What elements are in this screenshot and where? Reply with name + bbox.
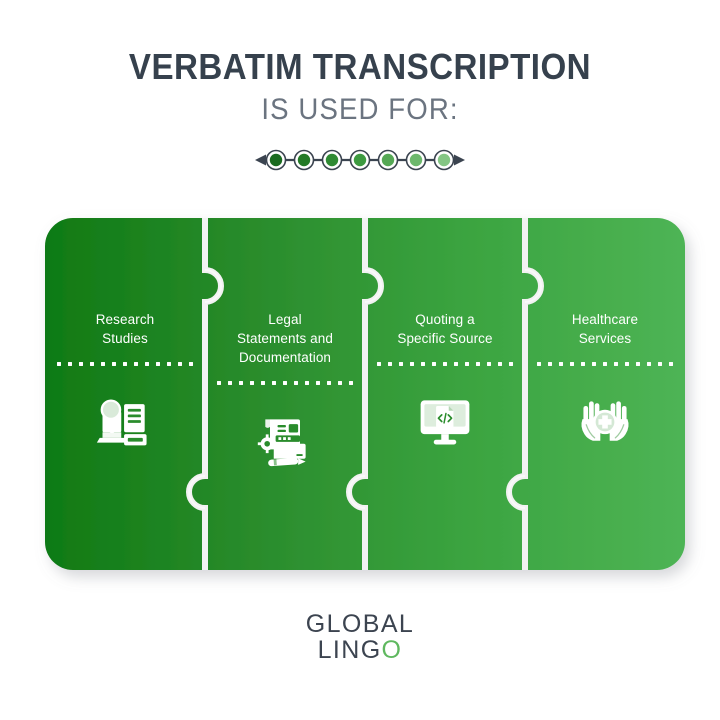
hands-medical-cross-icon xyxy=(572,388,638,454)
separator-dot xyxy=(349,381,353,385)
infographic-canvas: VERBATIM TRANSCRIPTION IS USED FOR: xyxy=(0,0,720,720)
separator-dot xyxy=(145,362,149,366)
separator-dot xyxy=(570,362,574,366)
separator-dot xyxy=(636,362,640,366)
separator-dot xyxy=(327,381,331,385)
divider-dot xyxy=(410,154,422,166)
logo-line-lingo: LINGO xyxy=(0,638,720,664)
separator-dot xyxy=(178,362,182,366)
card-dot-separator xyxy=(537,362,673,366)
separator-dot xyxy=(294,381,298,385)
divider-dot xyxy=(270,154,282,166)
separator-dot xyxy=(388,362,392,366)
separator-dot xyxy=(487,362,491,366)
logo-line-global: GLOBAL xyxy=(0,612,720,638)
separator-dot xyxy=(548,362,552,366)
separator-dot xyxy=(156,362,160,366)
separator-dot xyxy=(68,362,72,366)
decorative-divider xyxy=(0,142,720,178)
divider-dot xyxy=(354,154,366,166)
monitor-code-document-icon xyxy=(412,388,478,454)
separator-dot xyxy=(316,381,320,385)
separator-dot xyxy=(57,362,61,366)
separator-dot xyxy=(272,381,276,385)
puzzle-card-healthcare-services[interactable]: Healthcare Services xyxy=(525,218,685,570)
separator-dot xyxy=(669,362,673,366)
separator-dot xyxy=(217,381,221,385)
separator-dot xyxy=(90,362,94,366)
separator-dot xyxy=(625,362,629,366)
separator-dot xyxy=(581,362,585,366)
separator-dot xyxy=(261,381,265,385)
separator-dot xyxy=(399,362,403,366)
separator-dot xyxy=(614,362,618,366)
separator-dot xyxy=(592,362,596,366)
card-dot-separator xyxy=(377,362,513,366)
divider-dot xyxy=(298,154,310,166)
divider-dot xyxy=(438,154,450,166)
card-label-line: Legal xyxy=(237,310,333,329)
logo-o-accent: O xyxy=(382,636,403,664)
separator-dot xyxy=(167,362,171,366)
separator-dot xyxy=(112,362,116,366)
magnifier-book-icon xyxy=(92,388,158,454)
separator-dot xyxy=(79,362,83,366)
separator-dot xyxy=(498,362,502,366)
separator-dot xyxy=(338,381,342,385)
separator-dot xyxy=(101,362,105,366)
divider-dot xyxy=(382,154,394,166)
document-gear-pencil-icon xyxy=(252,407,318,473)
puzzle-card-research-studies[interactable]: Research Studies xyxy=(45,218,205,570)
separator-dot xyxy=(559,362,563,366)
separator-dot xyxy=(454,362,458,366)
separator-dot xyxy=(228,381,232,385)
card-label: Quoting a Specific Source xyxy=(397,310,492,348)
separator-dot xyxy=(123,362,127,366)
separator-dot xyxy=(443,362,447,366)
separator-dot xyxy=(410,362,414,366)
card-dot-separator xyxy=(217,381,353,385)
card-label-line: Research xyxy=(96,310,155,329)
card-label-line: Specific Source xyxy=(397,329,492,348)
logo-lingo-prefix: LING xyxy=(318,636,382,664)
card-label-line: Quoting a xyxy=(397,310,492,329)
brand-logo: GLOBAL LINGO xyxy=(0,612,720,663)
puzzle-board: Research Studies xyxy=(45,218,685,570)
card-label-line: Services xyxy=(572,329,638,348)
card-label: Healthcare Services xyxy=(572,310,638,348)
separator-dot xyxy=(305,381,309,385)
separator-dot xyxy=(658,362,662,366)
page-title: VERBATIM TRANSCRIPTION xyxy=(29,48,691,87)
separator-dot xyxy=(537,362,541,366)
card-label-line: Healthcare xyxy=(572,310,638,329)
separator-dot xyxy=(509,362,513,366)
puzzle-card-legal-statements[interactable]: Legal Statements and Documentation xyxy=(205,218,365,570)
card-dot-separator xyxy=(57,362,193,366)
separator-dot xyxy=(377,362,381,366)
card-label: Research Studies xyxy=(96,310,155,348)
separator-dot xyxy=(476,362,480,366)
puzzle-cards: Research Studies xyxy=(45,218,685,570)
card-label-line: Statements and xyxy=(237,329,333,348)
separator-dot xyxy=(432,362,436,366)
separator-dot xyxy=(250,381,254,385)
separator-dot xyxy=(134,362,138,366)
divider-dot xyxy=(326,154,338,166)
separator-dot xyxy=(603,362,607,366)
card-label-line: Studies xyxy=(96,329,155,348)
separator-dot xyxy=(239,381,243,385)
puzzle-card-quoting-source[interactable]: Quoting a Specific Source xyxy=(365,218,525,570)
separator-dot xyxy=(189,362,193,366)
separator-dot xyxy=(647,362,651,366)
separator-dot xyxy=(283,381,287,385)
page-subtitle: IS USED FOR: xyxy=(29,93,691,128)
card-label-line: Documentation xyxy=(237,348,333,367)
separator-dot xyxy=(421,362,425,366)
card-label: Legal Statements and Documentation xyxy=(237,310,333,367)
header: VERBATIM TRANSCRIPTION IS USED FOR: xyxy=(0,48,720,127)
separator-dot xyxy=(465,362,469,366)
dotted-arrow-divider-icon xyxy=(255,145,465,175)
